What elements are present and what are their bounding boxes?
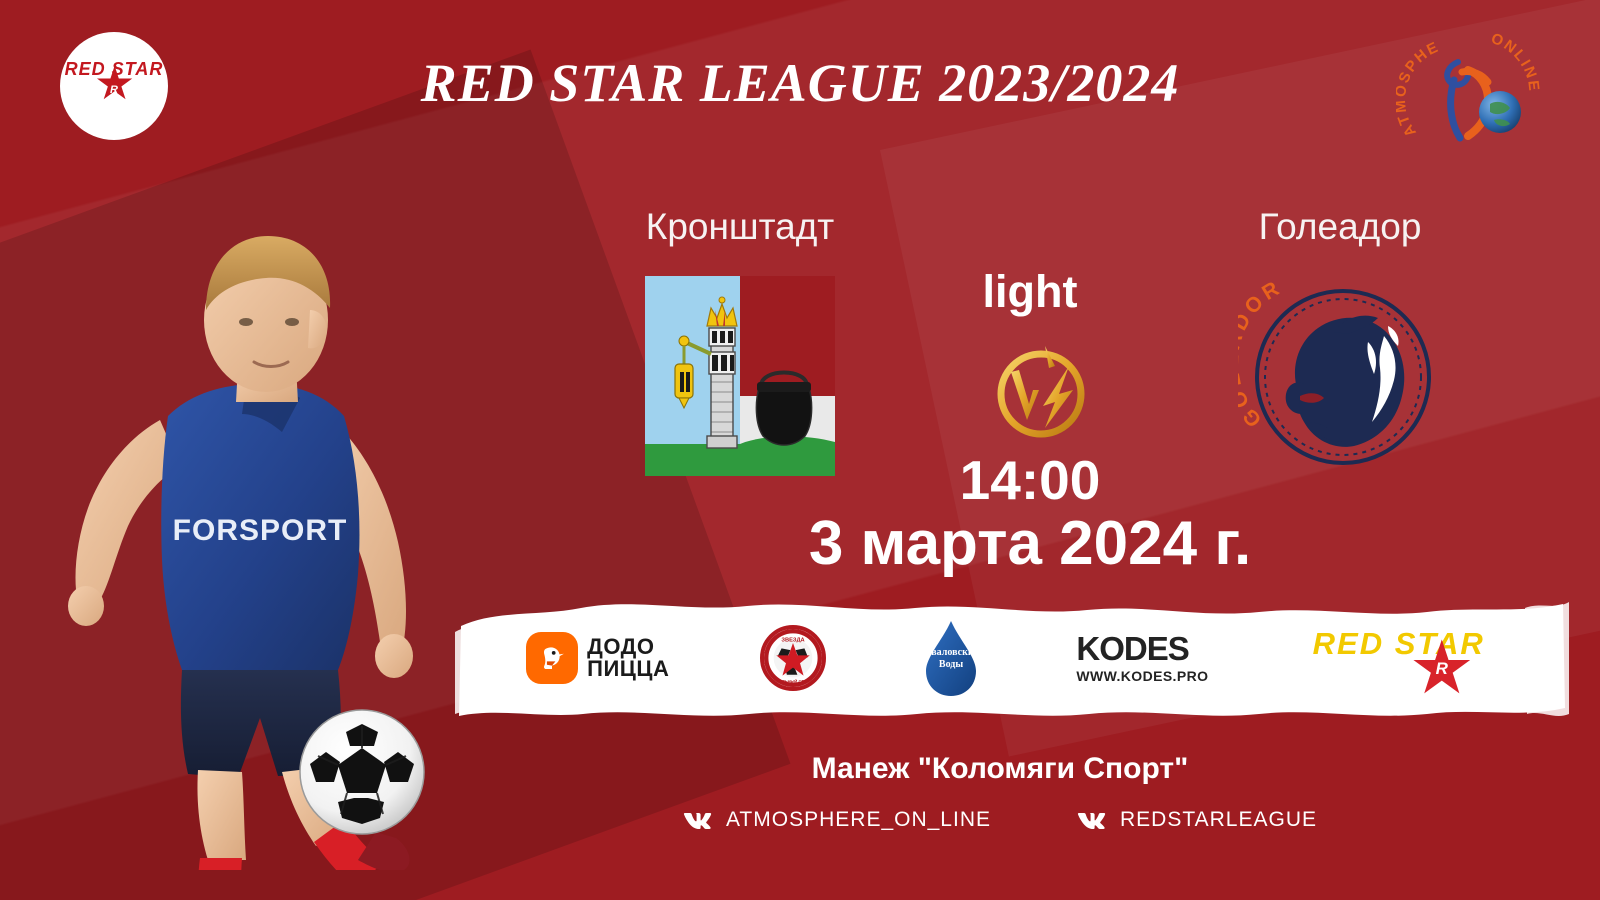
atmosphere-online-logo[interactable]: ATMOSPHERE ONLINE: [1396, 26, 1544, 154]
away-team-name: Голеадор: [1170, 206, 1510, 248]
kodes-wordmark: KODES WWW.KODES.PRO: [1076, 632, 1208, 684]
dodo-pizza-wordmark: ДОДО ПИЦЦА: [587, 636, 669, 681]
sponsor-hvalovskie-vody[interactable]: Хваловские Воды: [916, 617, 986, 699]
dodo-line-1: ДОДО: [587, 636, 669, 658]
sponsor-red-star[interactable]: RED STAR ★ R: [1299, 622, 1499, 694]
match-date: 3 марта 2024 г.: [620, 508, 1440, 579]
vk-icon: [1077, 810, 1107, 830]
dodo-bird-icon: [526, 632, 578, 684]
svg-text:ЗВЕЗДА: ЗВЕЗДА: [781, 637, 804, 643]
match-category-label: light: [860, 266, 1200, 318]
hvalovskie-line-1: Хваловские: [916, 647, 986, 659]
svg-text:FORSPORT: FORSPORT: [173, 514, 348, 547]
goleador-lion-logo: GOLEADOR: [1238, 272, 1448, 482]
social-handle-redstarleague: REDSTARLEAGUE: [1120, 808, 1317, 832]
page-title: RED STAR LEAGUE 2023/2024: [0, 52, 1600, 114]
vs-badge-icon: [985, 336, 1097, 448]
hvalovskie-line-2: Воды: [916, 659, 986, 671]
match-time: 14:00: [860, 448, 1200, 512]
svg-text:ONLINE: ONLINE: [1489, 30, 1543, 93]
sponsor-kodes[interactable]: KODES WWW.KODES.PRO: [1076, 632, 1208, 684]
sponsor-zvezda[interactable]: ЗВЕЗДА ФУТБОЛЬНЫЙ СТАДИОН: [760, 625, 826, 691]
kodes-line-1: KODES: [1076, 632, 1208, 665]
red-star-sponsor-letter: R: [1436, 660, 1448, 677]
svg-text:ФУТБОЛЬНЫЙ СТАДИОН: ФУТБОЛЬНЫЙ СТАДИОН: [767, 679, 818, 684]
soccer-ball: [296, 706, 428, 838]
vk-icon: [683, 810, 713, 830]
kodes-line-2: WWW.KODES.PRO: [1076, 668, 1208, 684]
kronshtadt-coat-of-arms: [645, 276, 835, 476]
red-star-sponsor-logo: RED STAR ★ R: [1299, 622, 1499, 694]
social-link-atmosphere[interactable]: ATMOSPHERE_ON_LINE: [683, 808, 991, 832]
venue-name: Манеж "Коломяги Спорт": [620, 752, 1380, 786]
sponsor-dodo-pizza[interactable]: ДОДО ПИЦЦА: [526, 632, 669, 684]
social-links: ATMOSPHERE_ON_LINE REDSTARLEAGUE: [600, 808, 1400, 832]
match-poster: FORSPORT: [0, 0, 1600, 900]
sponsor-banner: ДОДО ПИЦЦА ЗВЕЗДА ФУТБОЛ: [455, 596, 1570, 720]
social-handle-atmosphere: ATMOSPHERE_ON_LINE: [726, 808, 991, 832]
dodo-line-2: ПИЦЦА: [587, 658, 669, 680]
home-team-name: Кронштадт: [570, 206, 910, 248]
zvezda-badge-icon: ЗВЕЗДА ФУТБОЛЬНЫЙ СТАДИОН: [760, 625, 826, 691]
star-icon: ★ R: [1399, 640, 1485, 696]
hvalovskie-wordmark: Хваловские Воды: [916, 647, 986, 670]
social-link-redstarleague[interactable]: REDSTARLEAGUE: [1077, 808, 1317, 832]
water-drop-icon: Хваловские Воды: [916, 617, 986, 699]
svg-text:ATMOSPHERE: ATMOSPHERE: [1396, 26, 1442, 140]
